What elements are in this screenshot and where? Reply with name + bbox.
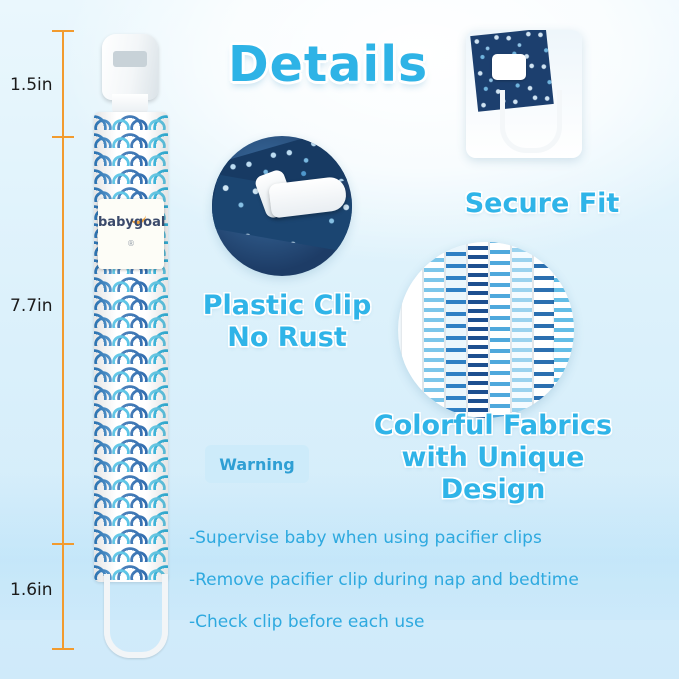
ruler-tick-bottom bbox=[52, 648, 74, 650]
ruler-tick-2 bbox=[52, 543, 74, 545]
fabric-strip bbox=[402, 242, 422, 418]
fabric-strip bbox=[534, 242, 554, 418]
warning-line: -Check clip before each use bbox=[189, 612, 424, 632]
measurement-ruler bbox=[62, 30, 64, 650]
caption-colorful-fabrics-line1: Colorful Fabrics bbox=[368, 410, 618, 442]
secure-fit-photo bbox=[466, 30, 582, 158]
fabric-strip bbox=[424, 242, 444, 418]
pacifier-clip-product: babygoal ® bbox=[88, 34, 198, 644]
plastic-clip-head bbox=[102, 34, 158, 100]
warning-line: -Remove pacifier clip during nap and bed… bbox=[189, 570, 579, 590]
warning-line: -Supervise baby when using pacifier clip… bbox=[189, 528, 542, 548]
fabric-strip bbox=[512, 242, 532, 418]
fabric-strip bbox=[446, 242, 466, 418]
ruler-tick-1 bbox=[52, 136, 74, 138]
plastic-clip-photo bbox=[212, 136, 352, 276]
colorful-fabrics-photo bbox=[398, 242, 574, 418]
ruler-tick-top bbox=[52, 30, 74, 32]
measurement-label-middle: 7.7in bbox=[10, 296, 53, 316]
measurement-label-bottom: 1.6in bbox=[10, 580, 53, 600]
fabric-strip bbox=[468, 242, 488, 418]
fabric-strip bbox=[490, 242, 510, 418]
product-detail-image: 1.5in 7.7in 1.6in babygoal ® Details Sec… bbox=[0, 0, 679, 679]
measurement-label-top: 1.5in bbox=[10, 75, 53, 95]
caption-colorful-fabrics: Colorful Fabrics with Unique Design bbox=[368, 410, 618, 506]
strap-shading bbox=[94, 112, 168, 582]
caption-plastic-clip: Plastic Clip No Rust bbox=[192, 290, 382, 354]
secure-fit-loop bbox=[500, 90, 562, 153]
fabric-loop bbox=[104, 574, 168, 658]
warning-badge-label: Warning bbox=[219, 455, 294, 474]
caption-colorful-fabrics-line2: with Unique bbox=[368, 442, 618, 474]
patterned-strap bbox=[94, 112, 168, 582]
warning-badge: Warning bbox=[205, 445, 309, 483]
caption-plastic-clip-line2: No Rust bbox=[192, 322, 382, 354]
secure-fit-white-clip bbox=[492, 54, 526, 80]
caption-colorful-fabrics-line3: Design bbox=[368, 474, 618, 506]
caption-secure-fit: Secure Fit bbox=[452, 188, 632, 220]
brand-tag: babygoal ® bbox=[98, 199, 164, 269]
caption-plastic-clip-line1: Plastic Clip bbox=[192, 290, 382, 322]
fabric-strip bbox=[554, 242, 574, 418]
brand-name: babygoal bbox=[98, 215, 164, 230]
page-title: Details bbox=[228, 36, 428, 93]
brand-registered-mark: ® bbox=[98, 239, 164, 248]
